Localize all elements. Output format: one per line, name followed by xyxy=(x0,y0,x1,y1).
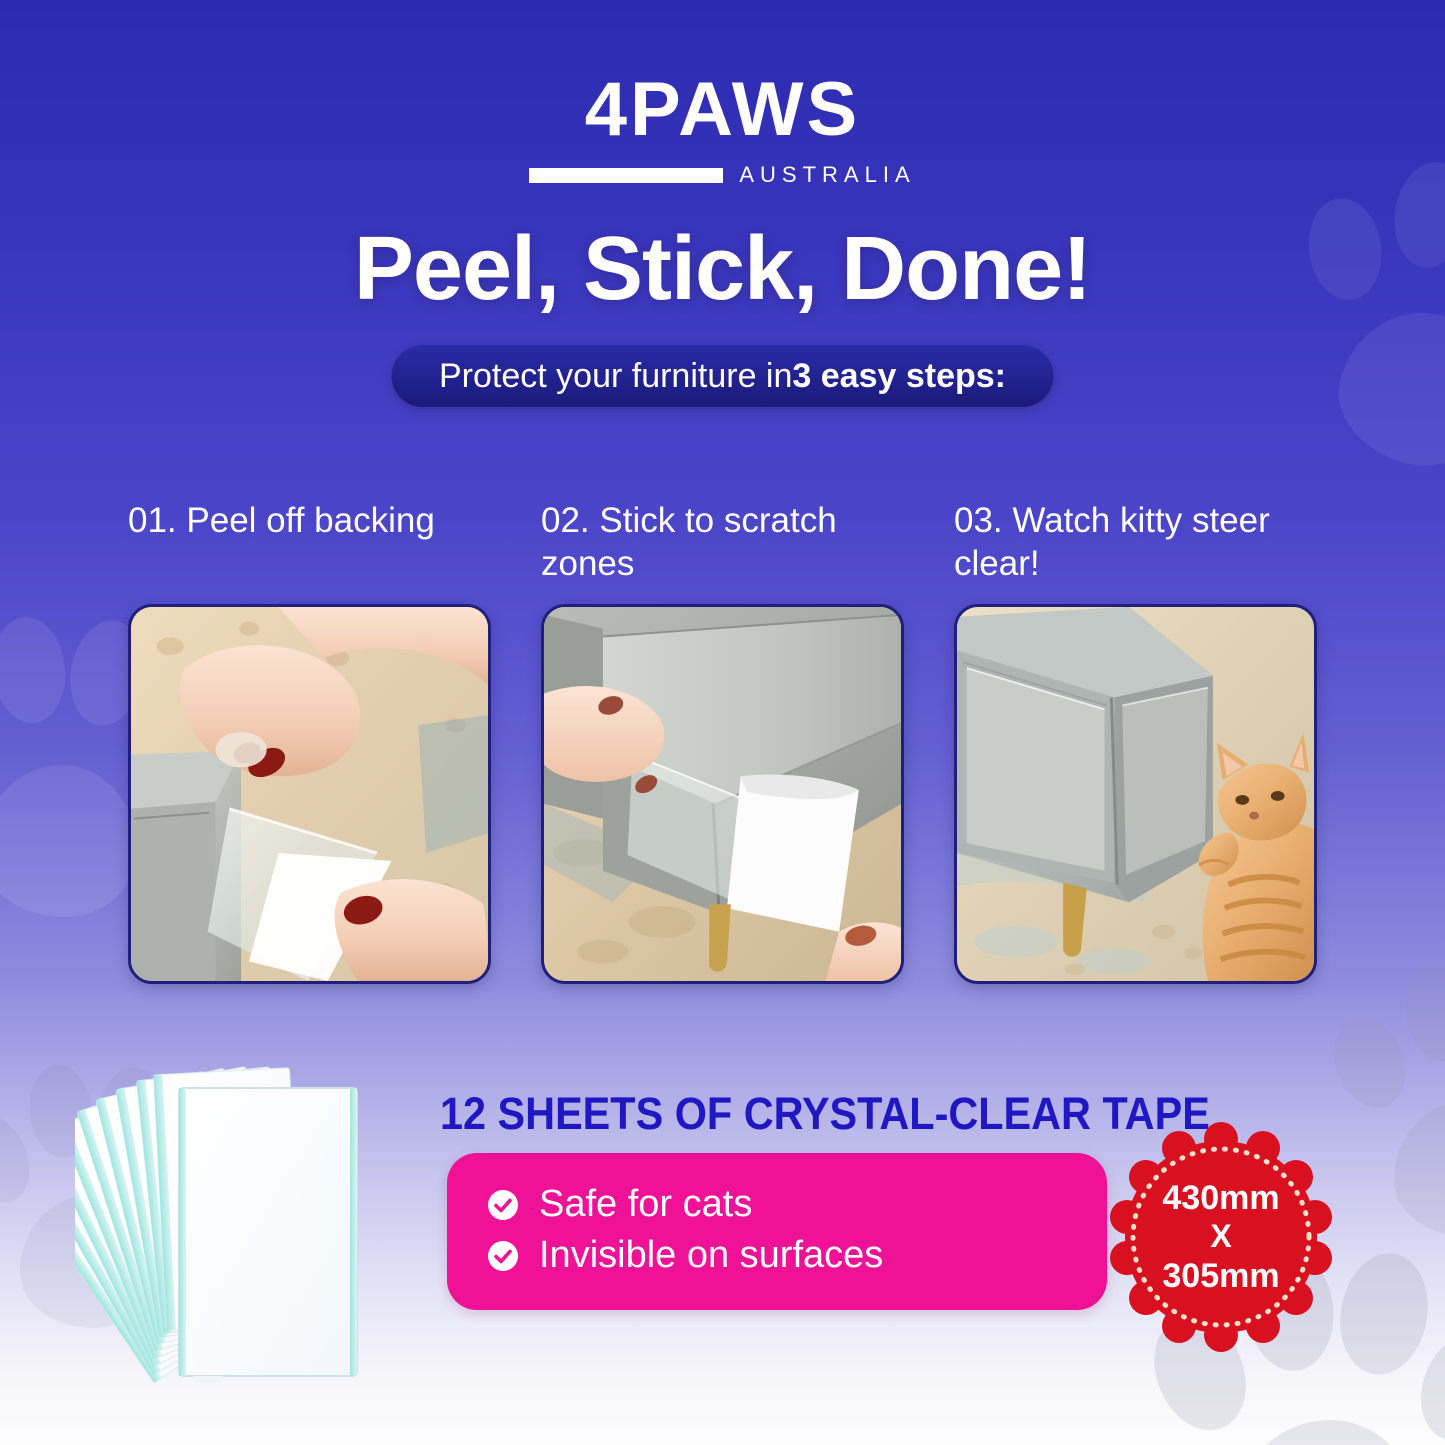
brand-logo: 4PAWS AUSTRALIA xyxy=(0,72,1445,188)
benefit-label: Safe for cats xyxy=(539,1179,752,1230)
benefit-item: Invisible on surfaces xyxy=(487,1230,1067,1281)
step-card: 02. Stick to scratch zones xyxy=(541,500,904,984)
pack-title: 12 SHEETS OF CRYSTAL-CLEAR TAPE xyxy=(440,1088,1047,1140)
check-circle-icon xyxy=(487,1240,519,1272)
step-card: 03. Watch kitty steer clear! xyxy=(954,500,1317,984)
paw-print-icon xyxy=(1330,950,1445,1250)
subtitle-pill: Protect your furniture in 3 easy steps: xyxy=(391,345,1054,407)
benefits-panel: Safe for cats Invisible on surfaces xyxy=(447,1153,1107,1310)
step-label: 02. Stick to scratch zones xyxy=(541,500,904,588)
size-badge-text: 430mm X 305mm xyxy=(1108,1122,1334,1352)
size-width: 430mm xyxy=(1162,1178,1279,1218)
tape-sheets-illustration xyxy=(75,1030,425,1400)
size-badge: 430mm X 305mm xyxy=(1108,1122,1334,1352)
poster-canvas: 4PAWS AUSTRALIA Peel, Stick, Done! Prote… xyxy=(0,0,1445,1445)
page-title: Peel, Stick, Done! xyxy=(0,222,1445,317)
step-label: 03. Watch kitty steer clear! xyxy=(954,500,1317,588)
check-circle-icon xyxy=(487,1189,519,1221)
step-photo-watch-kitty-steer-clear xyxy=(954,604,1317,984)
size-height: 305mm xyxy=(1162,1256,1279,1296)
brand-name: 4PAWS xyxy=(0,72,1445,148)
size-separator: X xyxy=(1210,1218,1231,1256)
brand-country: AUSTRALIA xyxy=(739,162,915,188)
benefit-label: Invisible on surfaces xyxy=(539,1230,883,1281)
logo-divider-bar xyxy=(529,168,723,183)
subtitle-emphasis: 3 easy steps: xyxy=(792,357,1006,396)
step-photo-stick-to-scratch-zones xyxy=(541,604,904,984)
step-card: 01. Peel off backing xyxy=(128,500,491,984)
benefit-item: Safe for cats xyxy=(487,1179,1067,1230)
steps-row: 01. Peel off backing xyxy=(128,500,1318,984)
subtitle-lead: Protect your furniture in xyxy=(439,357,792,396)
step-photo-peel-off-backing xyxy=(128,604,491,984)
step-label: 01. Peel off backing xyxy=(128,500,491,588)
